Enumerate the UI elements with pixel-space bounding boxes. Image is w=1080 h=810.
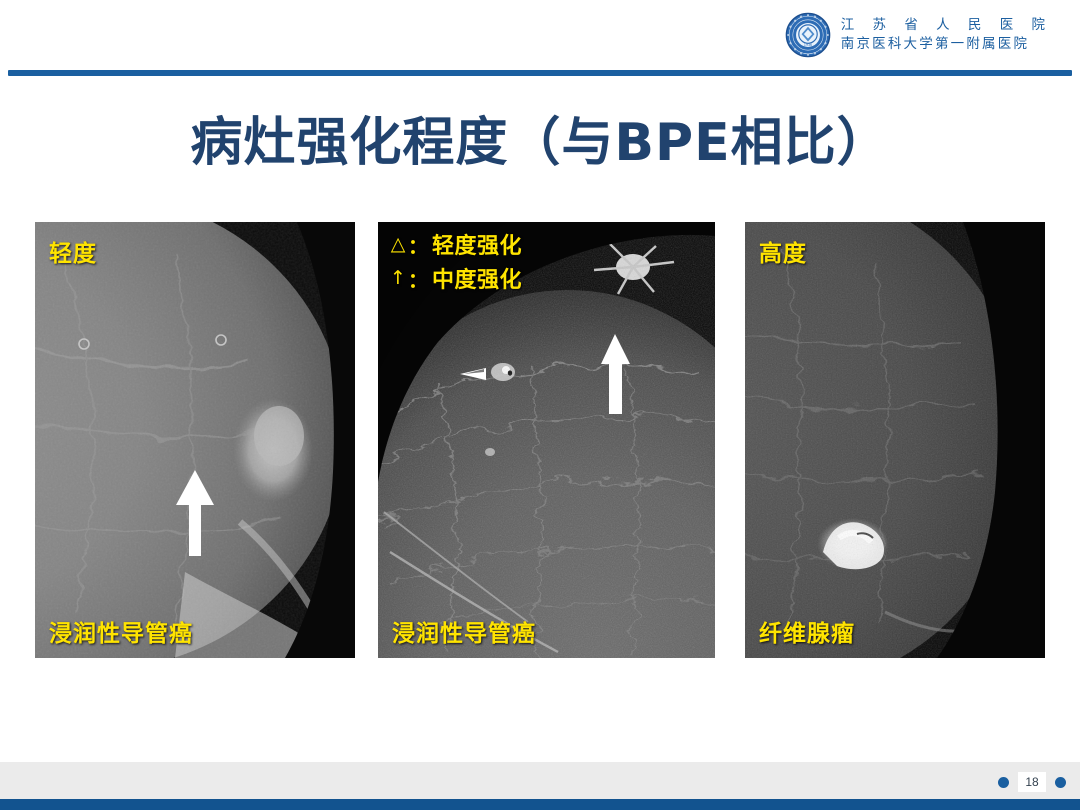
pager: 18 xyxy=(998,772,1066,792)
panel-mild-bottom-caption: 浸润性导管癌 xyxy=(49,614,193,648)
mri-scan-mild xyxy=(35,222,355,658)
svg-text:1936: 1936 xyxy=(804,43,812,47)
panel-high-top-caption: 高度 xyxy=(759,234,807,268)
hospital-name-line-2: 南京医科大学第一附属医院 xyxy=(841,37,1052,53)
triangle-icon: △ xyxy=(388,233,408,255)
legend-separator-mild: ： xyxy=(408,230,428,259)
image-panel-row: 轻度 浸润性导管癌 xyxy=(35,222,1045,658)
hospital-seal-icon: 1936 xyxy=(785,12,831,58)
header-divider xyxy=(8,70,1072,76)
panel-high-bottom-caption: 纤维腺瘤 xyxy=(759,614,855,648)
footer-band xyxy=(0,762,1080,799)
hospital-name: 江 苏 省 人 民 医 院 南京医科大学第一附属医院 xyxy=(841,18,1052,52)
mri-scan-high xyxy=(745,222,1045,658)
up-arrow-icon: ↑ xyxy=(388,267,408,289)
panel-mild-top-caption: 轻度 xyxy=(49,234,97,268)
legend-row-mild: △ ： 轻度强化 xyxy=(388,228,522,260)
panel-moderate-bottom-caption: 浸润性导管癌 xyxy=(392,614,536,648)
page-number: 18 xyxy=(1018,772,1046,792)
legend-label-mild: 轻度强化 xyxy=(432,228,522,260)
footer-accent-bar xyxy=(0,799,1080,810)
slide-header: 1936 江 苏 省 人 民 医 院 南京医科大学第一附属医院 xyxy=(0,0,1080,75)
hospital-branding: 1936 江 苏 省 人 民 医 院 南京医科大学第一附属医院 xyxy=(785,12,1052,58)
legend-row-moderate: ↑ ： 中度强化 xyxy=(388,262,522,294)
hospital-name-line-1: 江 苏 省 人 民 医 院 xyxy=(841,18,1052,34)
legend-separator-moderate: ： xyxy=(408,264,428,293)
pager-dot-left[interactable] xyxy=(998,777,1009,788)
pager-dot-right[interactable] xyxy=(1055,777,1066,788)
panel-mild-enhancement[interactable]: 轻度 浸润性导管癌 xyxy=(35,222,355,658)
panel-moderate-enhancement[interactable]: △ ： 轻度强化 ↑ ： 中度强化 浸润性导管癌 xyxy=(378,222,715,658)
enhancement-legend: △ ： 轻度强化 ↑ ： 中度强化 xyxy=(388,228,522,294)
panel-high-enhancement[interactable]: 高度 纤维腺瘤 xyxy=(745,222,1045,658)
legend-label-moderate: 中度强化 xyxy=(432,262,522,294)
page-title: 病灶强化程度（与BPE相比） xyxy=(0,100,1080,175)
